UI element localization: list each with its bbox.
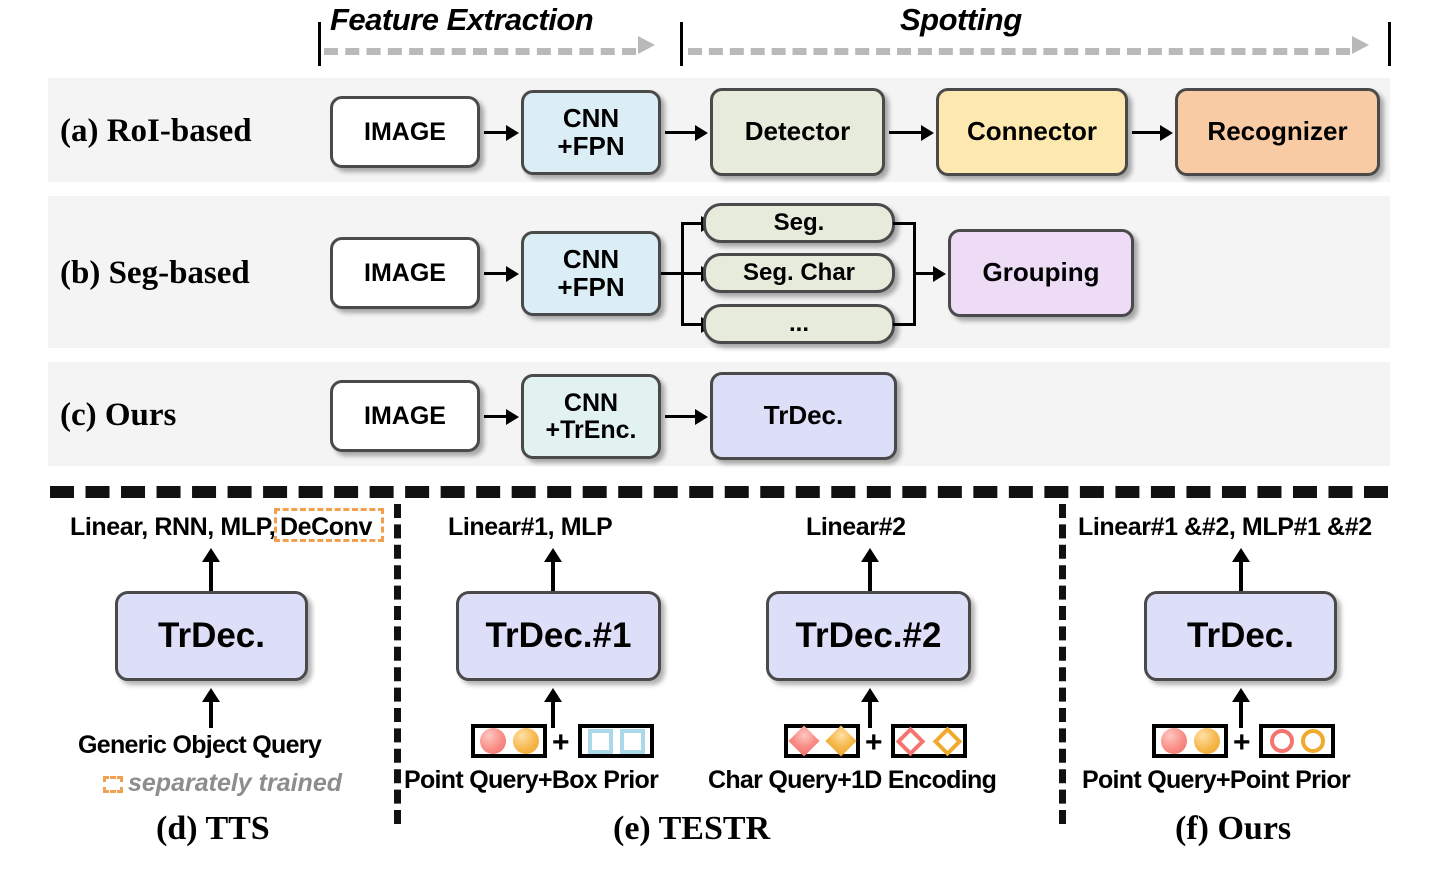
pipeline-c-cnn-trenc-block[interactable]: CNN +TrEnc. bbox=[521, 374, 661, 459]
panel-e2-decoder-block[interactable]: TrDec.#2 bbox=[766, 591, 971, 681]
panel-d-head-boxed: DeConv bbox=[280, 513, 372, 542]
block-label: Connector bbox=[967, 118, 1097, 145]
char-query-token-orange-wrap bbox=[826, 726, 856, 756]
pipeline-a-image-block[interactable]: IMAGE bbox=[330, 96, 480, 168]
block-label: Grouping bbox=[983, 259, 1100, 286]
panel-e2-output-arrow-shaft bbox=[868, 560, 872, 592]
panel-e1-prior-tokens[interactable] bbox=[578, 724, 654, 758]
box-prior-token-1-icon bbox=[588, 729, 613, 754]
block-label: IMAGE bbox=[364, 260, 446, 286]
block-label: TrDec. bbox=[764, 402, 844, 429]
panel-e2-plus-symbol: + bbox=[865, 726, 883, 760]
row-label-b: (b) Seg-based bbox=[60, 255, 250, 292]
pipeline-b-arrow-1 bbox=[484, 272, 506, 275]
point-prior-token-pink-icon bbox=[1270, 729, 1294, 753]
char-query-token-pink-wrap bbox=[789, 726, 819, 756]
pipeline-c-arrowhead-1 bbox=[506, 409, 519, 425]
panel-e1-decoder-block[interactable]: TrDec.#1 bbox=[456, 591, 661, 681]
pipeline-b-fanout-branch-1 bbox=[681, 222, 703, 225]
encoding-token-pink-wrap bbox=[896, 726, 926, 756]
panel-e1-query-label: Point Query+Box Prior bbox=[404, 766, 658, 795]
pipeline-c-image-block[interactable]: IMAGE bbox=[330, 380, 480, 452]
block-label: TrDec.#1 bbox=[486, 616, 632, 656]
feature-extraction-arrow-line bbox=[324, 48, 636, 55]
panel-f-output-arrow-shaft bbox=[1239, 560, 1243, 592]
panel-f-query-tokens[interactable] bbox=[1152, 724, 1228, 758]
panel-d-query-label: Generic Object Query bbox=[78, 731, 321, 760]
panel-d-input-arrow-shaft bbox=[209, 700, 213, 728]
spotting-arrowhead bbox=[1352, 36, 1369, 54]
block-label: TrDec. bbox=[158, 616, 265, 656]
pipeline-c-arrow-1 bbox=[484, 415, 506, 418]
pipeline-a-detector-block[interactable]: Detector bbox=[710, 88, 885, 176]
point-prior-token-orange-icon bbox=[1301, 729, 1325, 753]
pipeline-b-seg-ellipsis-block[interactable]: ... bbox=[703, 304, 895, 344]
pipeline-b-cnn-fpn-block[interactable]: CNN +FPN bbox=[521, 231, 661, 316]
panel-f-output-arrow-head bbox=[1232, 548, 1250, 562]
panel-e2-input-arrow-shaft bbox=[868, 700, 872, 728]
panel-f-input-arrow-head bbox=[1232, 688, 1250, 702]
pipeline-a-arrowhead-3 bbox=[921, 125, 934, 141]
panel-caption-e: (e) TESTR bbox=[613, 810, 770, 848]
panel-e1-input-arrow-head bbox=[544, 688, 562, 702]
pipeline-b-fanin-branch-1 bbox=[893, 222, 915, 225]
pipeline-a-recognizer-block[interactable]: Recognizer bbox=[1175, 88, 1380, 176]
section-divider bbox=[50, 486, 1388, 498]
pipeline-b-image-block[interactable]: IMAGE bbox=[330, 237, 480, 309]
block-label: Recognizer bbox=[1207, 118, 1347, 145]
spotting-arrow-line bbox=[688, 48, 1350, 55]
panel-d-output-arrow-shaft bbox=[209, 560, 213, 592]
panel-e2-query-label: Char Query+1D Encoding bbox=[708, 766, 996, 795]
phase-label-spotting: Spotting bbox=[900, 2, 1022, 38]
pipeline-b-seg-block[interactable]: Seg. bbox=[703, 203, 895, 243]
panel-e1-query-tokens[interactable] bbox=[471, 724, 547, 758]
pipeline-b-fanout-stub bbox=[661, 272, 683, 275]
row-label-a: (a) RoI-based bbox=[60, 113, 252, 150]
pipeline-a-arrowhead-1 bbox=[506, 125, 519, 141]
panel-caption-f: (f) Ours bbox=[1175, 810, 1291, 848]
point-query-token-orange-icon bbox=[1194, 728, 1220, 754]
block-label-line1: CNN bbox=[563, 246, 619, 273]
feature-extraction-arrowhead bbox=[638, 36, 655, 54]
pipeline-b-arrowhead-1 bbox=[506, 266, 519, 282]
block-label: Seg. bbox=[774, 210, 825, 235]
pipeline-b-fanin-stub bbox=[913, 272, 935, 275]
panel-e2-head: Linear#2 bbox=[806, 513, 906, 542]
panel-f-query-label: Point Query+Point Prior bbox=[1082, 766, 1350, 795]
pipeline-b-fanout-branch-3 bbox=[681, 323, 703, 326]
panel-f-input-arrow-shaft bbox=[1239, 700, 1243, 728]
pipeline-a-arrow-3 bbox=[889, 131, 921, 134]
point-query-token-pink-icon bbox=[1161, 728, 1187, 754]
block-label-line2: +TrEnc. bbox=[545, 417, 636, 443]
block-label: ... bbox=[789, 311, 809, 336]
block-label: TrDec.#2 bbox=[796, 616, 942, 656]
block-label: TrDec. bbox=[1187, 616, 1294, 656]
row-label-c: (c) Ours bbox=[60, 397, 176, 434]
block-label-line2: +FPN bbox=[557, 133, 624, 160]
phase-label-feature-extraction: Feature Extraction bbox=[330, 2, 593, 38]
block-label: IMAGE bbox=[364, 119, 446, 145]
encoding-token-orange-icon bbox=[933, 726, 963, 756]
encoding-token-pink-icon bbox=[896, 726, 926, 756]
block-label-line1: CNN bbox=[563, 105, 619, 132]
pipeline-a-connector-block[interactable]: Connector bbox=[936, 88, 1128, 176]
point-query-token-orange-icon bbox=[513, 728, 539, 754]
timeline-tick-start bbox=[318, 22, 321, 66]
phase-timeline: Feature Extraction Spotting bbox=[0, 0, 1453, 68]
pipeline-a-arrow-4 bbox=[1132, 131, 1160, 134]
panel-e2-query-tokens[interactable] bbox=[784, 724, 860, 758]
pipeline-a-arrowhead-4 bbox=[1160, 125, 1173, 141]
panel-f-head: Linear#1 &#2, MLP#1 &#2 bbox=[1078, 513, 1372, 542]
panel-d-output-arrow-head bbox=[202, 548, 220, 562]
panel-d-decoder-block[interactable]: TrDec. bbox=[115, 591, 308, 681]
pipeline-b-grouping-block[interactable]: Grouping bbox=[948, 229, 1134, 317]
panel-d-input-arrow-head bbox=[202, 688, 220, 702]
point-query-token-pink-icon bbox=[480, 728, 506, 754]
panel-f-decoder-block[interactable]: TrDec. bbox=[1144, 591, 1337, 681]
panel-f-prior-tokens[interactable] bbox=[1259, 724, 1335, 758]
block-label: Seg. Char bbox=[743, 260, 855, 285]
pipeline-a-arrow-1 bbox=[484, 131, 506, 134]
timeline-tick-end bbox=[1388, 22, 1391, 66]
pipeline-a-arrowhead-2 bbox=[695, 125, 708, 141]
panel-e1-plus-symbol: + bbox=[552, 726, 570, 760]
pipeline-c-arrowhead-2 bbox=[695, 409, 708, 425]
timeline-tick-mid bbox=[680, 22, 683, 66]
encoding-token-orange-wrap bbox=[933, 726, 963, 756]
panel-caption-d: (d) TTS bbox=[156, 810, 270, 848]
pipeline-a-cnn-fpn-block[interactable]: CNN +FPN bbox=[521, 90, 661, 175]
panel-divider-e-f bbox=[1059, 504, 1073, 824]
pipeline-c-arrow-2 bbox=[665, 415, 695, 418]
separately-trained-legend: separately trained bbox=[128, 769, 342, 798]
pipeline-b-fanout-branch-2 bbox=[681, 272, 703, 275]
panel-e1-head: Linear#1, MLP bbox=[448, 513, 612, 542]
char-query-token-pink-icon bbox=[788, 725, 819, 756]
pipeline-b-fanin-arrow bbox=[933, 266, 946, 282]
block-label: Detector bbox=[745, 118, 850, 145]
block-label-line1: CNN bbox=[564, 390, 618, 416]
box-prior-token-2-icon bbox=[620, 729, 645, 754]
panel-e1-input-arrow-shaft bbox=[551, 700, 555, 728]
block-label: IMAGE bbox=[364, 403, 446, 429]
pipeline-c-trdec-block[interactable]: TrDec. bbox=[710, 372, 897, 460]
pipeline-a-arrow-2 bbox=[665, 131, 695, 134]
panel-e2-encoding-tokens[interactable] bbox=[891, 724, 967, 758]
panel-f-plus-symbol: + bbox=[1233, 726, 1251, 760]
separately-trained-swatch-icon bbox=[103, 776, 123, 793]
pipeline-b-fanin-branch-3 bbox=[893, 323, 915, 326]
panel-e1-output-arrow-head bbox=[544, 548, 562, 562]
panel-e2-output-arrow-head bbox=[861, 548, 879, 562]
panel-d-head-plain: Linear, RNN, MLP, bbox=[70, 513, 275, 542]
block-label-line2: +FPN bbox=[557, 274, 624, 301]
panel-e2-input-arrow-head bbox=[861, 688, 879, 702]
panel-e1-output-arrow-shaft bbox=[551, 560, 555, 592]
char-query-token-orange-icon bbox=[825, 725, 856, 756]
pipeline-b-seg-char-block[interactable]: Seg. Char bbox=[703, 253, 895, 293]
